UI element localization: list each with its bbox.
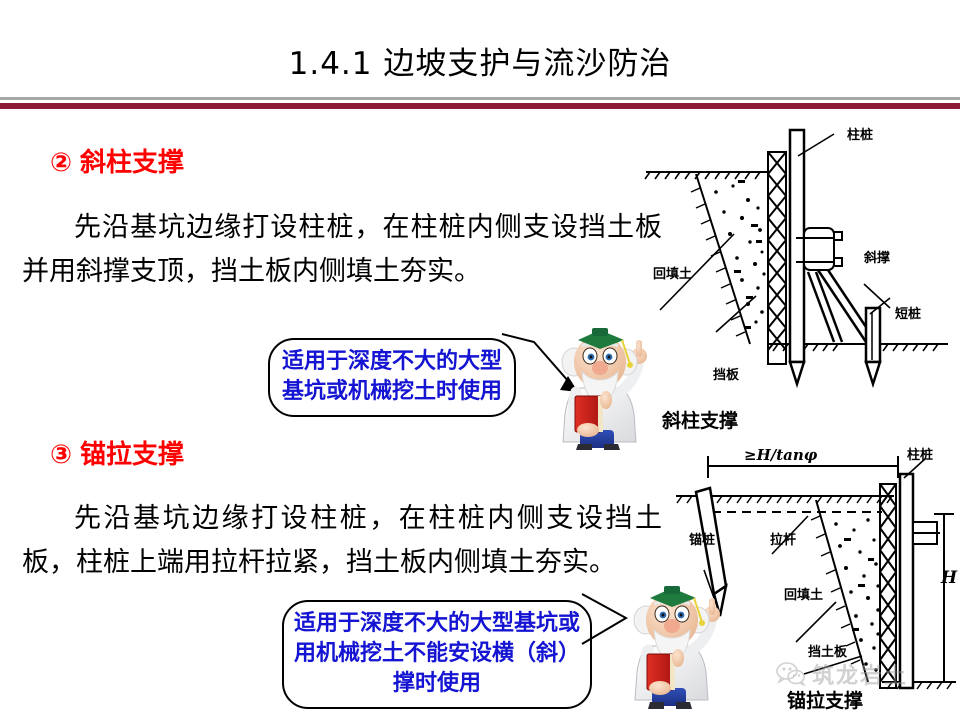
page-title: 1.4.1 边坡支护与流沙防治 bbox=[0, 38, 960, 83]
diagram1-label-backfill: 回填土 bbox=[653, 263, 692, 282]
diagram1-label-pile: 柱桩 bbox=[847, 124, 873, 143]
watermark: 筑龙岩土 bbox=[776, 658, 908, 690]
section-body-2: 先沿基坑边缘打设柱桩，在柱桩内侧支设挡土板并用斜撑支顶，挡土板内侧填土夯实。 bbox=[22, 206, 662, 294]
diagram2-label-anchor-pile: 锚桩 bbox=[689, 529, 715, 548]
diagram2-label-tie-rod: 拉杆 bbox=[770, 529, 796, 548]
section-label-3: 锚拉支撑 bbox=[80, 440, 184, 470]
diagram1-label-plank: 挡板 bbox=[713, 364, 739, 383]
diagram1-caption: 斜柱支撑 bbox=[662, 406, 738, 433]
diagram1-label-brace: 斜撑 bbox=[864, 247, 890, 266]
section-marker-2: ② bbox=[50, 148, 72, 178]
diagram2-label-pile: 柱桩 bbox=[907, 444, 933, 463]
diagram1-label-short-pile: 短桩 bbox=[895, 303, 921, 322]
professor-character-2 bbox=[620, 578, 730, 710]
callout-box-2: 适用于深度不大的大型基坑或用机械挖土不能安设横（斜）撑时使用 bbox=[282, 600, 592, 709]
header-divider-gray bbox=[0, 96, 960, 101]
diagram2-caption: 锚拉支撑 bbox=[787, 686, 863, 713]
section-label-2: 斜柱支撑 bbox=[80, 148, 184, 178]
diagram2-dimension-span: ≥H/tanφ bbox=[744, 446, 817, 464]
professor-character-1 bbox=[548, 322, 658, 450]
slide-canvas: 1.4.1 边坡支护与流沙防治 ②斜柱支撑 先沿基坑边缘打设柱桩，在柱桩内侧支设… bbox=[0, 0, 960, 720]
diagram2-dimension-height: H bbox=[941, 568, 957, 588]
header-divider-red bbox=[0, 103, 960, 109]
diagram2-label-backfill: 回填土 bbox=[784, 584, 823, 603]
section-heading-3: ③锚拉支撑 bbox=[50, 434, 184, 471]
wechat-icon bbox=[776, 662, 806, 686]
callout-box-1: 适用于深度不大的大型基坑或机械挖土时使用 bbox=[268, 338, 516, 417]
section-marker-3: ③ bbox=[50, 440, 72, 470]
watermark-text: 筑龙岩土 bbox=[812, 658, 908, 690]
section-body-3: 先沿基坑边缘打设柱桩，在柱桩内侧支设挡土板，柱桩上端用拉杆拉紧，挡土板内侧填土夯… bbox=[22, 497, 662, 585]
section-heading-2: ②斜柱支撑 bbox=[50, 142, 184, 179]
